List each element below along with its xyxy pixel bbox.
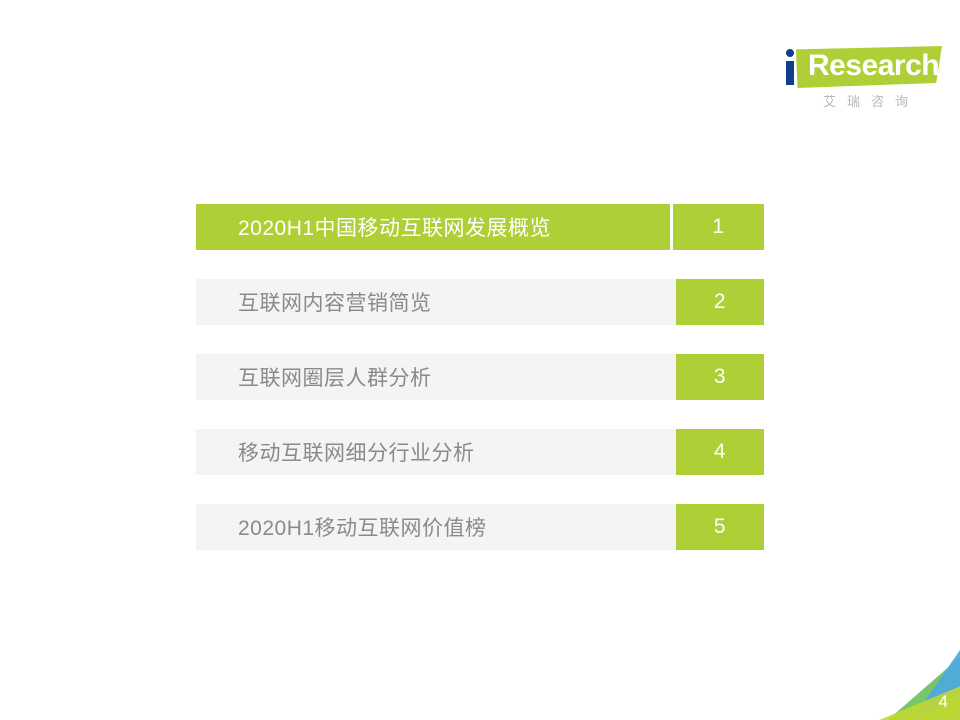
agenda-item-label: 2020H1中国移动互联网发展概览: [196, 204, 670, 250]
agenda-row[interactable]: 2020H1移动互联网价值榜 5: [196, 504, 764, 550]
logo-i-stem-icon: [786, 61, 794, 85]
iresearch-logo: Research 艾瑞咨询: [782, 44, 942, 120]
agenda-row[interactable]: 互联网圈层人群分析 3: [196, 354, 764, 400]
logo-i-dot-icon: [786, 49, 794, 57]
agenda-row[interactable]: 移动互联网细分行业分析 4: [196, 429, 764, 475]
agenda-item-number: 3: [676, 354, 764, 400]
logo-wordmark: Research: [808, 49, 939, 83]
agenda-row[interactable]: 2020H1中国移动互联网发展概览 1: [196, 204, 764, 250]
agenda-item-number: 4: [676, 429, 764, 475]
slide-canvas: Research 艾瑞咨询 2020H1中国移动互联网发展概览 1 互联网内容营…: [0, 0, 960, 720]
agenda-item-label: 互联网内容营销简览: [196, 279, 676, 325]
agenda-item-label: 移动互联网细分行业分析: [196, 429, 676, 475]
agenda-item-label: 互联网圈层人群分析: [196, 354, 676, 400]
corner-decoration: 4: [874, 650, 960, 720]
logo-mark: Research: [782, 44, 942, 92]
logo-subtitle: 艾瑞咨询: [798, 94, 944, 110]
agenda-row[interactable]: 互联网内容营销简览 2: [196, 279, 764, 325]
agenda-item-number: 1: [670, 204, 764, 250]
agenda-item-number: 2: [676, 279, 764, 325]
agenda-item-label: 2020H1移动互联网价值榜: [196, 504, 676, 550]
agenda-item-number: 5: [676, 504, 764, 550]
agenda-list: 2020H1中国移动互联网发展概览 1 互联网内容营销简览 2 互联网圈层人群分…: [196, 204, 764, 550]
page-number: 4: [939, 692, 948, 712]
